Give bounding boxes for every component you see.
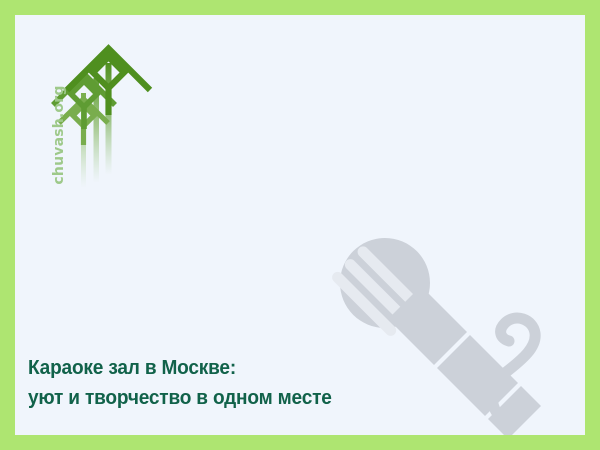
- logo[interactable]: chuvash.org: [37, 33, 157, 203]
- karaoke-banner: chuvash.org Караоке зал в Москве: уют и …: [0, 0, 600, 450]
- logo-wordmark: chuvash.org: [49, 85, 69, 185]
- microphone-cable-icon: [492, 318, 535, 427]
- headline-line-1: Караоке зал в Москве:: [28, 353, 419, 383]
- headline: Караоке зал в Москве: уют и творчество в…: [28, 353, 448, 413]
- headline-line-2: уют и творчество в одном месте: [28, 383, 419, 413]
- microphone-body-icon: [321, 235, 448, 347]
- banner-card: chuvash.org Караоке зал в Москве: уют и …: [15, 15, 585, 435]
